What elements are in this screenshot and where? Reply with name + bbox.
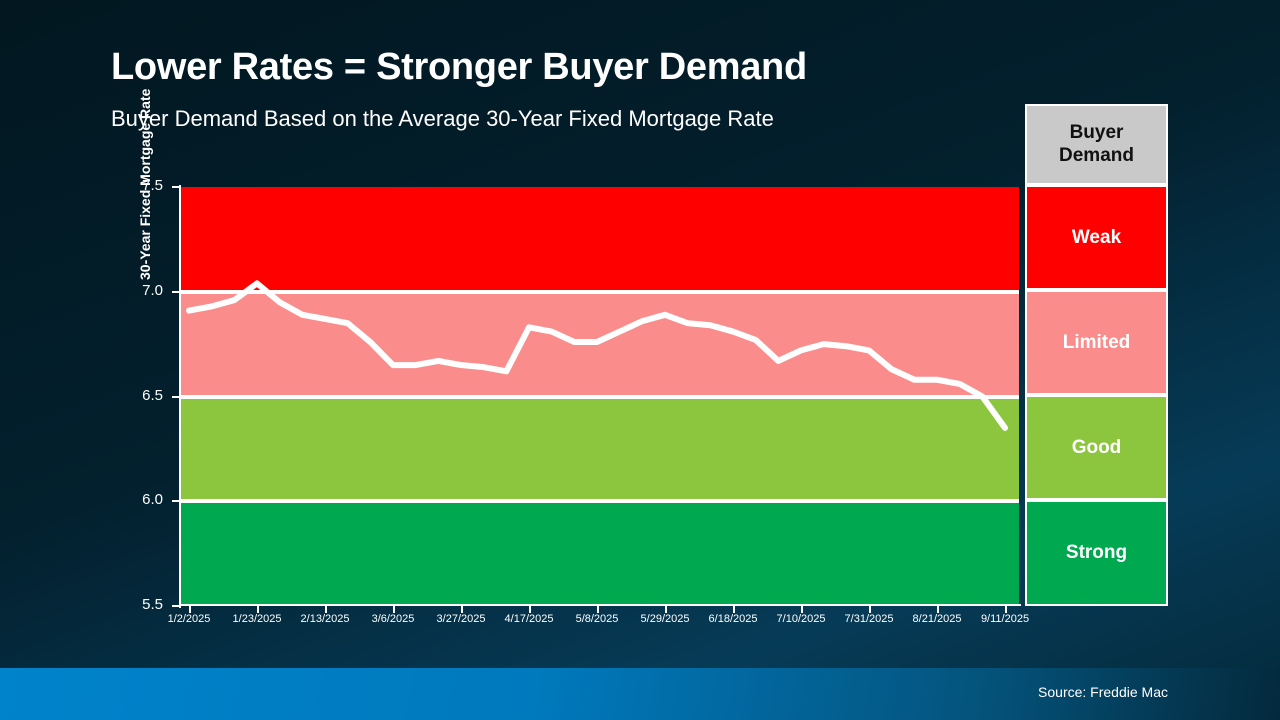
y-tick-label: 5.5 [103,596,163,613]
x-tick [597,606,599,613]
x-axis-line [179,604,1021,606]
x-tick-label: 7/10/2025 [777,613,826,625]
x-tick [801,606,803,613]
x-tick-label: 4/17/2025 [505,613,554,625]
rate-line-series [189,283,1005,428]
x-tick [461,606,463,613]
y-tick-label: 7.5 [103,177,163,194]
rate-line-chart [181,187,1019,606]
legend-item-good[interactable]: Good [1025,395,1168,500]
x-tick-label: 1/2/2025 [168,613,211,625]
x-tick-label: 5/8/2025 [576,613,619,625]
x-tick [869,606,871,613]
y-tick [172,186,181,188]
legend-item-weak[interactable]: Weak [1025,185,1168,290]
legend-header-line2: Demand [1059,145,1134,167]
x-tick [1005,606,1007,613]
x-tick [257,606,259,613]
source-label: Source: Freddie Mac [1038,684,1168,700]
y-tick [172,396,181,398]
x-tick [325,606,327,613]
y-tick [172,605,181,607]
y-tick [172,291,181,293]
chart-canvas: Lower Rates = Stronger Buyer Demand Buye… [0,0,1280,668]
x-tick-label: 6/18/2025 [709,613,758,625]
y-tick-label: 7.0 [103,282,163,299]
legend-header-line1: Buyer [1059,122,1134,144]
footer-bar: Source: Freddie Mac [0,668,1280,720]
slide-root: Lower Rates = Stronger Buyer Demand Buye… [0,0,1280,720]
x-tick-label: 5/29/2025 [641,613,690,625]
x-tick-label: 9/11/2025 [981,613,1029,625]
legend-panel: Buyer Demand Weak Limited Good Strong [1025,104,1168,606]
page-title: Lower Rates = Stronger Buyer Demand [111,46,807,89]
x-tick [937,606,939,613]
page-subtitle: Buyer Demand Based on the Average 30-Yea… [111,106,774,132]
legend-header: Buyer Demand [1025,104,1168,185]
x-tick [665,606,667,613]
plot-area [181,187,1019,606]
x-tick-label: 7/31/2025 [845,613,894,625]
x-tick [189,606,191,613]
x-tick-label: 1/23/2025 [233,613,282,625]
x-tick [733,606,735,613]
x-tick-label: 3/6/2025 [372,613,415,625]
y-tick-label: 6.5 [103,387,163,404]
y-tick [172,500,181,502]
legend-item-strong[interactable]: Strong [1025,500,1168,606]
y-tick-label: 6.0 [103,491,163,508]
x-tick-label: 2/13/2025 [301,613,350,625]
legend-item-limited[interactable]: Limited [1025,290,1168,395]
x-tick-label: 8/21/2025 [913,613,962,625]
x-tick [529,606,531,613]
x-tick [393,606,395,613]
x-tick-label: 3/27/2025 [437,613,486,625]
